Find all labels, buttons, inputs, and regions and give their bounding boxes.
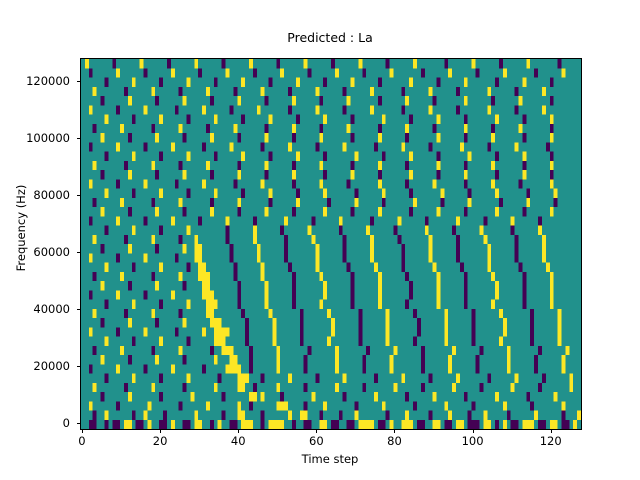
- y-axis-label: Frequency (Hz): [14, 43, 28, 413]
- x-tick-mark: [394, 429, 395, 433]
- x-tick-label: 100: [443, 434, 503, 448]
- y-tick-label: 20000: [0, 359, 70, 373]
- x-tick-label: 20: [130, 434, 190, 448]
- y-tick-mark: [77, 423, 81, 424]
- x-axis-label: Time step: [80, 452, 580, 466]
- y-tick-label: 100000: [0, 131, 70, 145]
- x-tick-mark: [316, 429, 317, 433]
- heatmap-plot-area: [80, 58, 582, 430]
- x-tick-label: 80: [364, 434, 424, 448]
- y-tick-mark: [77, 252, 81, 253]
- x-tick-label: 40: [208, 434, 268, 448]
- y-tick-label: 80000: [0, 188, 70, 202]
- matplotlib-figure: Predicted : La 020406080100120 020000400…: [0, 0, 640, 480]
- heatmap-canvas: [81, 59, 581, 429]
- x-tick-label: 60: [286, 434, 346, 448]
- y-tick-mark: [77, 81, 81, 82]
- x-tick-label: 120: [521, 434, 581, 448]
- y-tick-mark: [77, 195, 81, 196]
- y-tick-label: 40000: [0, 302, 70, 316]
- y-tick-mark: [77, 366, 81, 367]
- x-tick-mark: [551, 429, 552, 433]
- x-tick-mark: [238, 429, 239, 433]
- y-tick-label: 60000: [0, 245, 70, 259]
- y-tick-label: 0: [0, 416, 70, 430]
- y-tick-mark: [77, 309, 81, 310]
- x-tick-label: 0: [52, 434, 112, 448]
- y-tick-label: 120000: [0, 74, 70, 88]
- x-tick-mark: [160, 429, 161, 433]
- spectrogram-heatmap: [81, 59, 581, 429]
- x-tick-mark: [473, 429, 474, 433]
- y-tick-mark: [77, 138, 81, 139]
- x-tick-mark: [82, 429, 83, 433]
- page-title: Predicted : La: [80, 30, 580, 46]
